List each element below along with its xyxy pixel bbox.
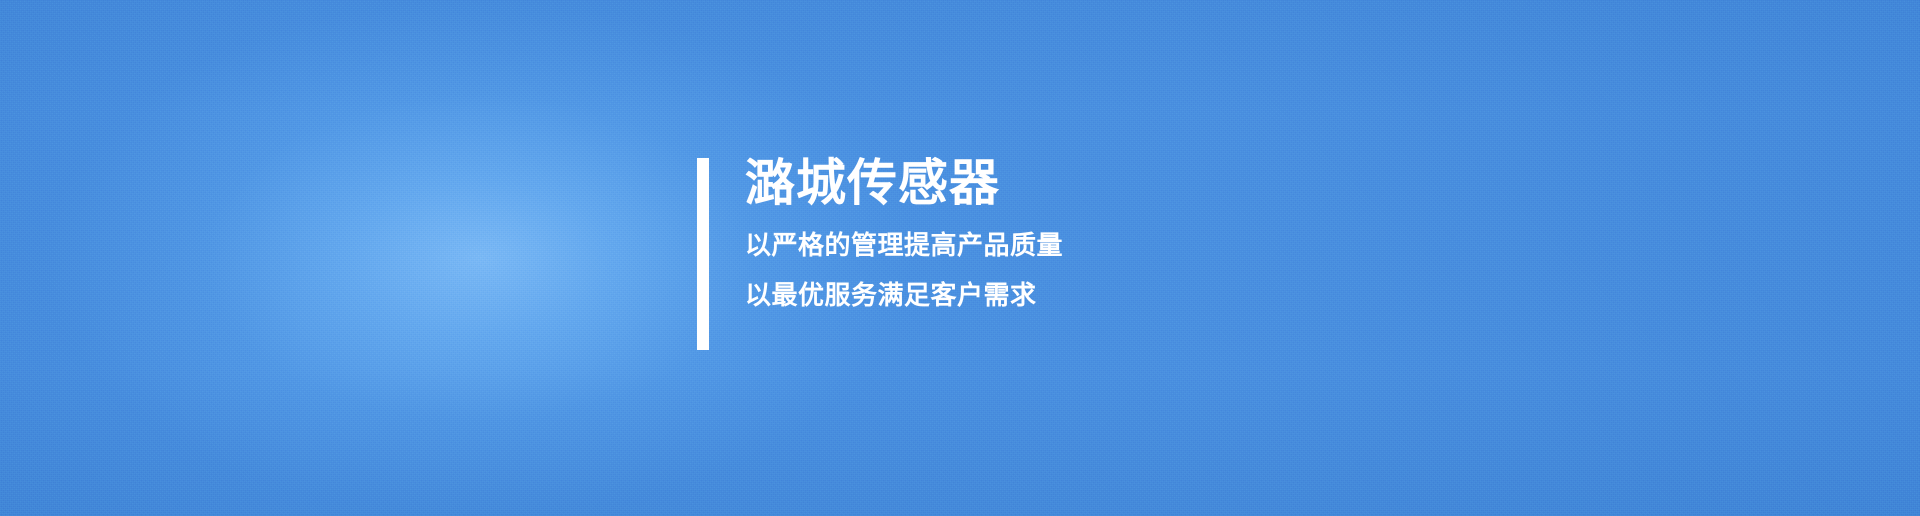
- banner-tagline-2: 以最优服务满足客户需求: [745, 282, 1063, 308]
- hero-banner: 潞城传感器 以严格的管理提高产品质量 以最优服务满足客户需求: [0, 0, 1920, 516]
- banner-text-block: 潞城传感器 以严格的管理提高产品质量 以最优服务满足客户需求: [745, 158, 1063, 350]
- banner-headline: 潞城传感器: [745, 158, 1063, 208]
- banner-content: 潞城传感器 以严格的管理提高产品质量 以最优服务满足客户需求: [697, 158, 1063, 350]
- accent-bar: [697, 158, 709, 350]
- banner-tagline-1: 以严格的管理提高产品质量: [745, 232, 1063, 258]
